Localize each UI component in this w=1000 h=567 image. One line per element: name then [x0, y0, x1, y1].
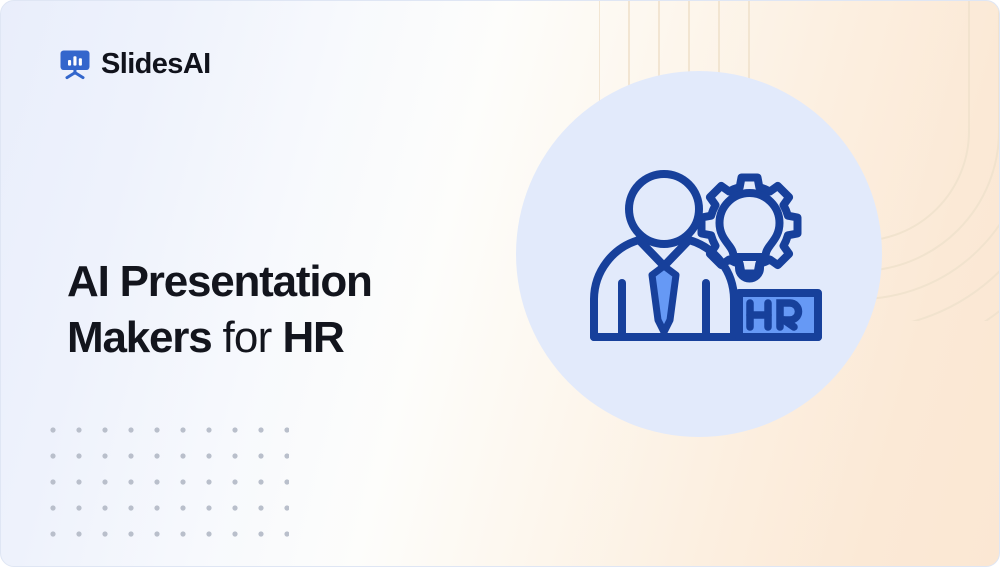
headline-makers: Makers: [67, 313, 211, 362]
page-title: AI Presentation Makers for HR: [67, 254, 497, 365]
presentation-board-bar-chart-icon: [58, 47, 92, 81]
hero-banner: SlidesAI AI Presentation Makers for HR: [0, 0, 1000, 567]
headline-hr: HR: [282, 313, 343, 362]
headline-line-2: Makers for HR: [67, 310, 497, 365]
headline-line-1: AI Presentation: [67, 257, 372, 306]
brand-name: SlidesAI: [101, 50, 211, 79]
dot-grid-decoration: [49, 426, 289, 554]
hr-professional-with-idea-gear-illustration: [579, 137, 851, 409]
headline-for: for: [223, 313, 272, 362]
brand-logo[interactable]: SlidesAI: [58, 47, 211, 81]
